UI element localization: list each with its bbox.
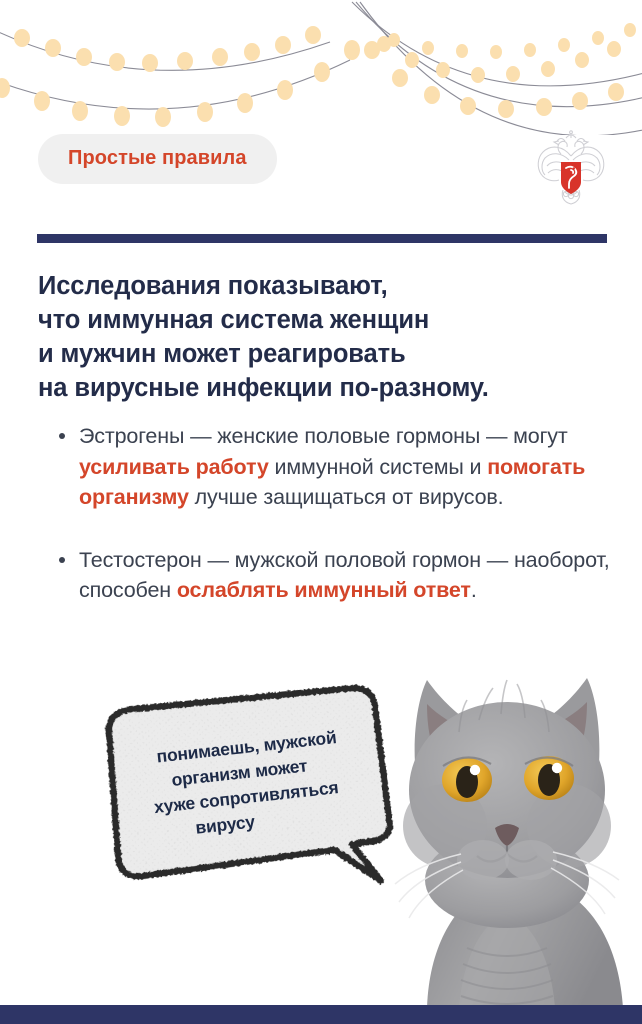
plain-phrase: .: [471, 578, 477, 602]
plain-phrase: иммунной системы и: [269, 455, 488, 479]
bullet-list: Эстрогены — женские половые гормоны — мо…: [57, 421, 622, 606]
highlighted-phrase: усиливать работу: [79, 455, 269, 479]
highlighted-phrase: ослаблять иммунный ответ: [177, 578, 471, 602]
plain-phrase: Эстрогены — женские половые гормоны — мо…: [79, 424, 568, 448]
poster-root: Простые правила: [0, 0, 642, 1024]
string-lights-garland: [0, 0, 642, 135]
heading-line-2: что иммунная система женщин: [38, 304, 618, 338]
badge-prostye-pravila[interactable]: Простые правила: [38, 134, 277, 184]
list-item: Эстрогены — женские половые гормоны — мо…: [57, 421, 622, 513]
page-title: Исследования показывают, что иммунная си…: [38, 270, 618, 406]
navy-divider-rule: [37, 234, 607, 243]
bullet-dot-icon: [59, 557, 65, 563]
bullet-text-0: Эстрогены — женские половые гормоны — мо…: [79, 424, 585, 509]
plain-phrase: лучше защищаться от вирусов.: [189, 485, 504, 509]
speech-bubble: понимаешь, мужской организм может хуже с…: [91, 681, 405, 907]
list-item: Тестостерон — мужской половой гормон — н…: [57, 545, 622, 606]
gray-cat-photo: [383, 648, 642, 1008]
bottom-navy-bar: [0, 1005, 642, 1024]
russian-ministry-of-health-emblem: [535, 130, 607, 210]
speech-bubble-text: понимаешь, мужской организм может хуже с…: [116, 726, 373, 843]
heading-line-3: и мужчин может реагировать: [38, 338, 618, 372]
bullet-text-1: Тестостерон — мужской половой гормон — н…: [79, 548, 610, 603]
heading-line-1: Исследования показывают,: [38, 270, 618, 304]
header-row: Простые правила: [0, 133, 642, 213]
bullet-dot-icon: [59, 433, 65, 439]
heading-line-4: на вирусные инфекции по-разному.: [38, 372, 618, 406]
